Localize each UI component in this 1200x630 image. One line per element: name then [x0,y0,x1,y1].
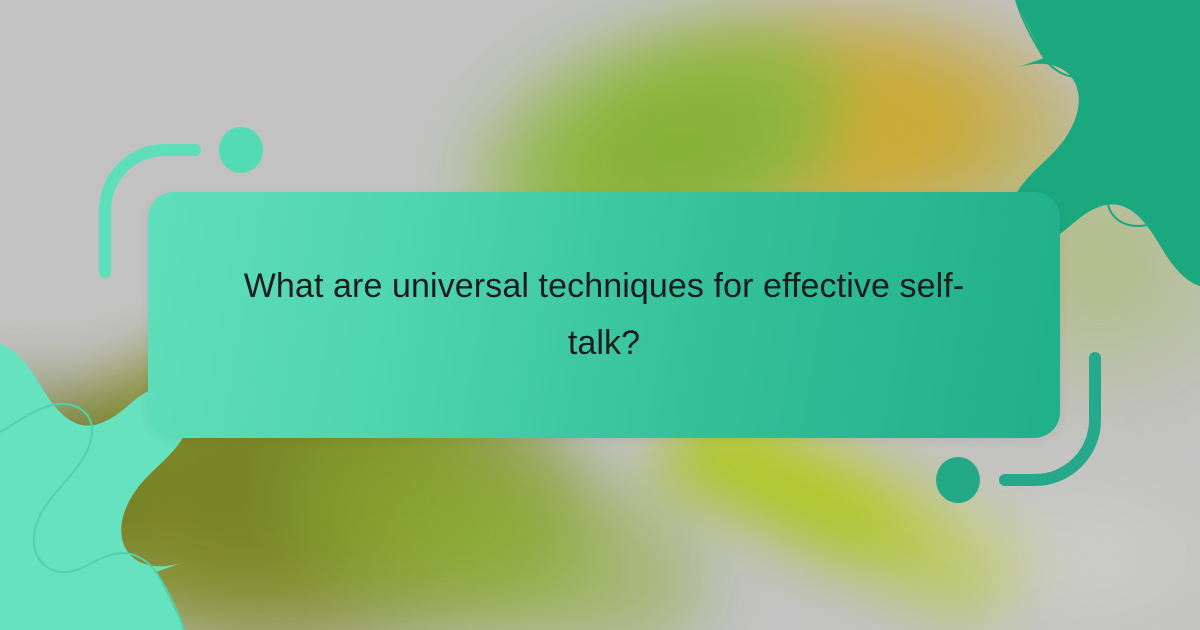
question-text: What are universal techniques for effect… [214,258,994,372]
poster-canvas: What are universal techniques for effect… [0,0,1200,630]
question-card: What are universal techniques for effect… [148,192,1060,438]
